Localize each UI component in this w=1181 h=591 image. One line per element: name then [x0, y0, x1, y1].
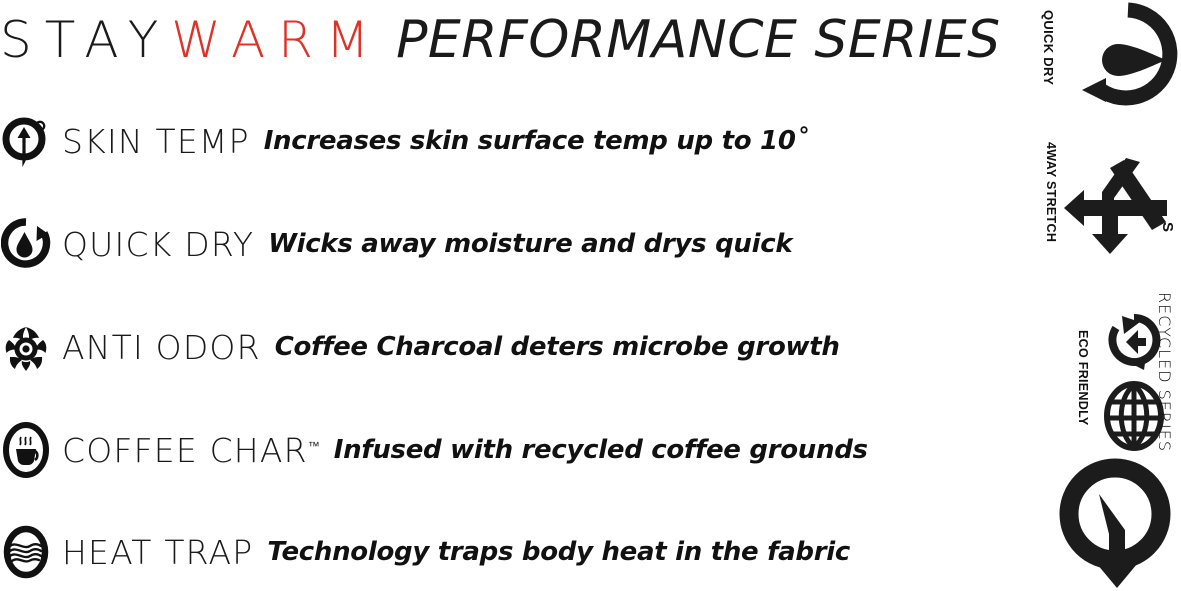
badge-quick-dry-arrow	[1055, 452, 1181, 591]
badge-eco-friendly-label: ECO FRIENDLY	[1076, 330, 1090, 426]
feature-row: SKIN TEMP Increases skin surface temp up…	[0, 108, 1010, 174]
feature-name-text: ANTI ODOR	[62, 328, 261, 367]
feature-name: COFFEE CHAR™	[62, 431, 320, 470]
feature-description: Wicks away moisture and drys quick	[268, 229, 792, 259]
feature-description: Infused with recycled coffee grounds	[334, 435, 868, 465]
feature-name: QUICK DRY	[62, 225, 254, 264]
feature-name: HEAT TRAP	[62, 533, 253, 572]
feature-row: COFFEE CHAR™ Infused with recycled coffe…	[0, 417, 1010, 483]
trademark-symbol: ™	[308, 439, 320, 453]
heat-trap-icon	[0, 523, 52, 581]
skin-temp-icon	[0, 112, 52, 170]
feature-description: Technology traps body heat in the fabric	[267, 537, 850, 567]
title-performance-series: PERFORMANCE SERIES	[396, 10, 1001, 70]
feature-name-text: COFFEE CHAR	[62, 431, 308, 470]
badge-4way-stretch-label: 4WAY STRETCH	[1044, 142, 1058, 242]
page-title: STAYWARMPERFORMANCE SERIES	[0, 8, 1000, 70]
badge-recycle-icon	[1106, 312, 1162, 372]
anti-odor-icon	[0, 318, 52, 376]
badge-quick-dry-label: QUICK DRY	[1041, 10, 1056, 85]
title-warm: WARM	[171, 11, 382, 69]
feature-row: QUICK DRY Wicks away moisture and drys q…	[0, 211, 1010, 277]
feature-description: Coffee Charcoal deters microbe growth	[275, 332, 840, 362]
title-stay: STAY	[0, 11, 171, 69]
feature-row: HEAT TRAP Technology traps body heat in …	[0, 519, 1010, 585]
feature-name-text: SKIN TEMP	[62, 122, 250, 161]
badge-quick-dry	[1070, 2, 1181, 120]
badge-4way-stretch	[1062, 150, 1181, 260]
badge-4way-s-mark: S	[1159, 222, 1176, 232]
quick-dry-icon	[0, 215, 52, 273]
coffee-char-icon	[0, 421, 52, 479]
feature-name: ANTI ODOR	[62, 328, 261, 367]
feature-name-text: HEAT TRAP	[62, 533, 253, 572]
feature-name-text: QUICK DRY	[62, 225, 254, 264]
feature-name: SKIN TEMP	[62, 122, 250, 161]
badge-recycled-series-label: RECYCLED SERIES	[1155, 292, 1174, 452]
feature-description: Increases skin surface temp up to 10˚	[264, 126, 809, 156]
poster-canvas: STAYWARMPERFORMANCE SERIES SKIN TEMP Inc…	[0, 0, 1181, 591]
feature-row: ANTI ODOR Coffee Charcoal deters microbe…	[0, 314, 1010, 380]
